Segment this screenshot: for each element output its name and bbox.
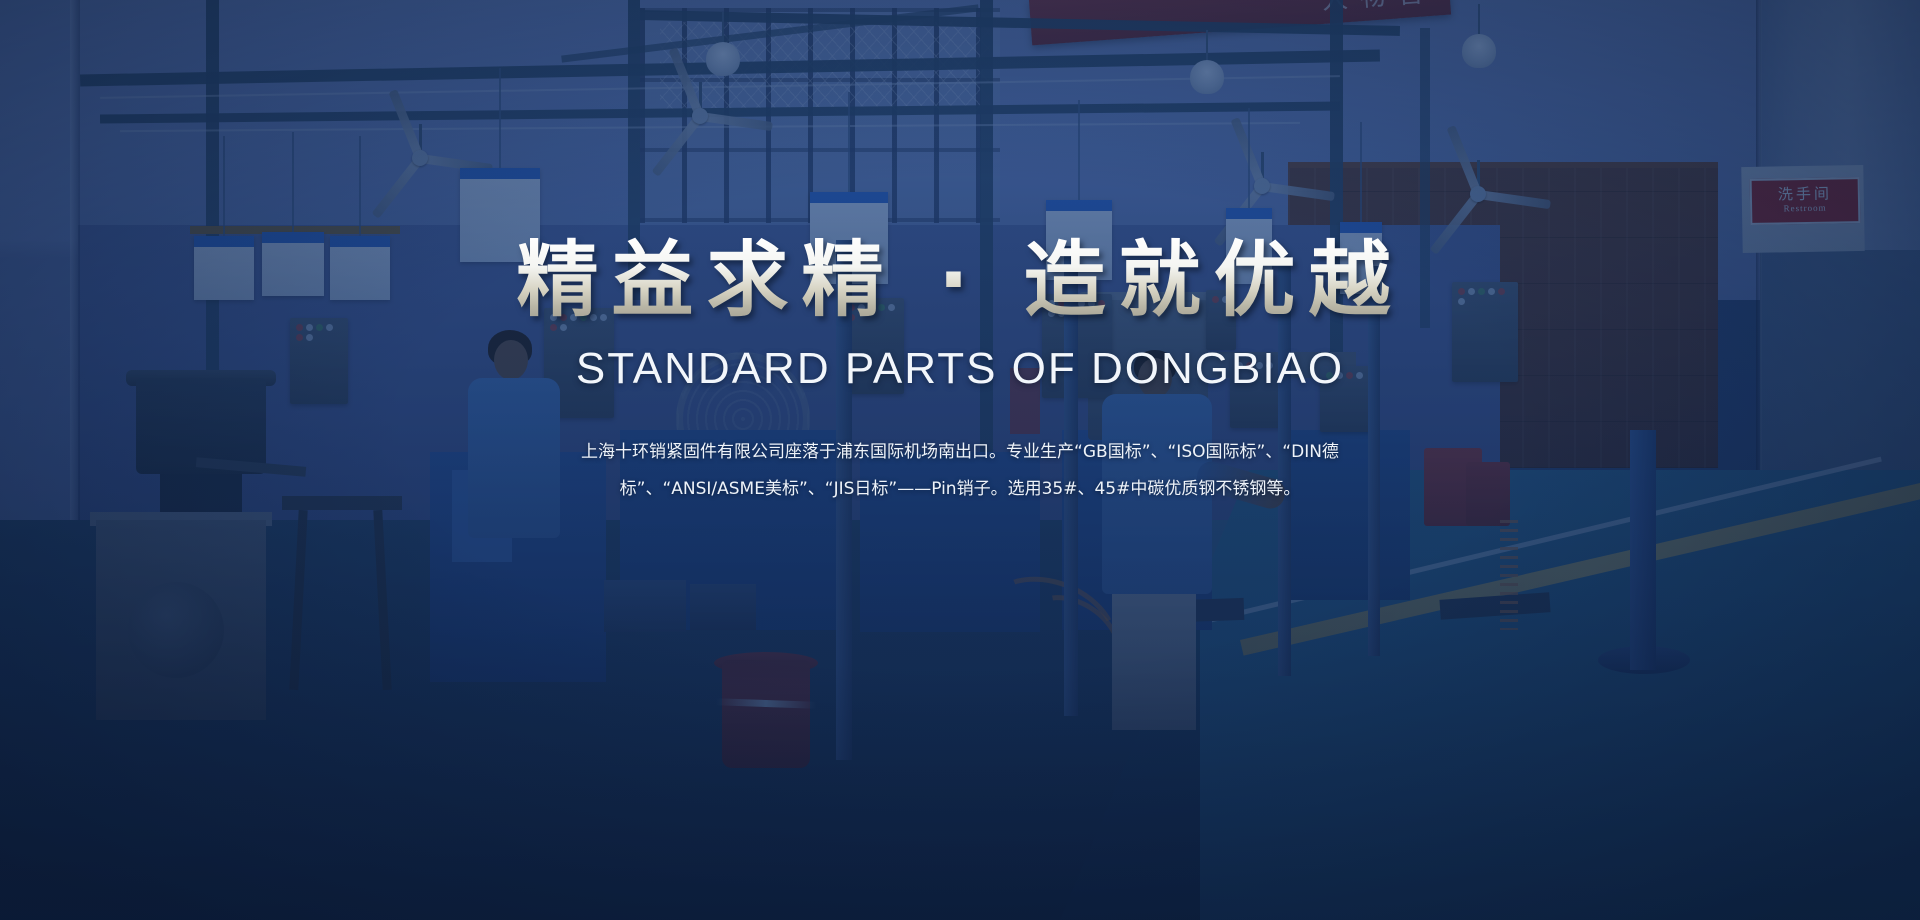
hero-subheadline: STANDARD PARTS OF DONGBIAO	[240, 344, 1680, 394]
hero-banner: 人物害	[0, 0, 1920, 920]
hero-text-block: 精益求精 · 造就优越 STANDARD PARTS OF DONGBIAO 上…	[0, 236, 1920, 507]
hero-headline: 精益求精 · 造就优越	[240, 236, 1680, 326]
hero-description: 上海十环销紧固件有限公司座落于浦东国际机场南出口。专业生产“GB国标”、“ISO…	[580, 434, 1340, 507]
